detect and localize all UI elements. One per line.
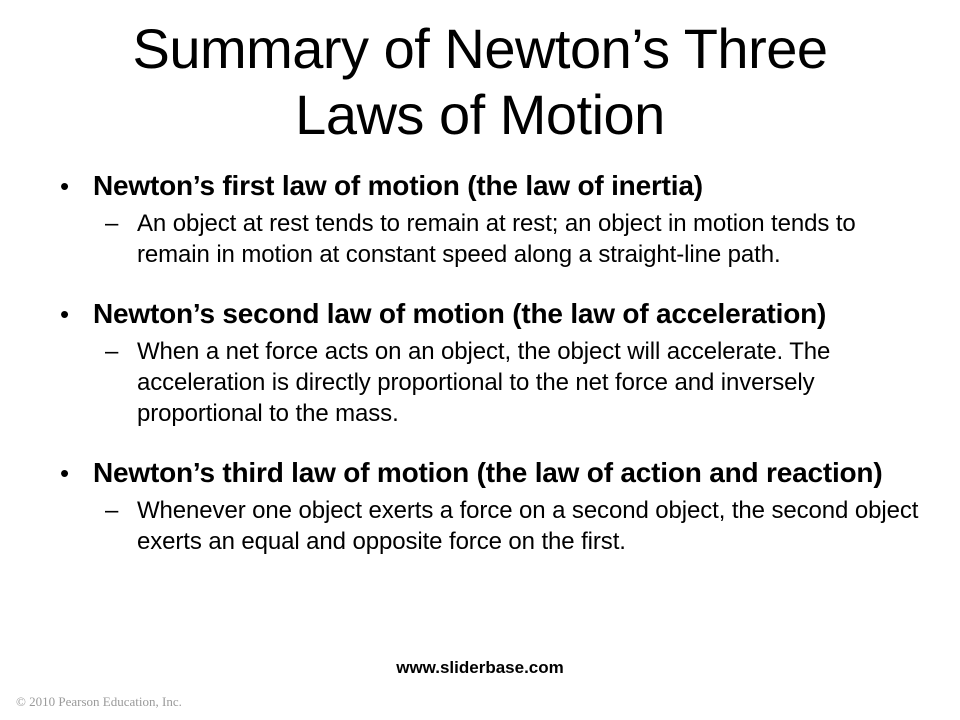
law-detail-first: –An object at rest tends to remain at re… bbox=[50, 208, 930, 270]
law-heading-second: •Newton’s second law of motion (the law … bbox=[50, 296, 930, 332]
law-heading-text: Newton’s third law of motion (the law of… bbox=[93, 457, 882, 488]
dash-icon: – bbox=[105, 208, 118, 239]
slide-body: •Newton’s first law of motion (the law o… bbox=[50, 168, 930, 557]
law-detail-third: –Whenever one object exerts a force on a… bbox=[50, 495, 930, 557]
law-group-third: •Newton’s third law of motion (the law o… bbox=[50, 455, 930, 557]
law-heading-third: •Newton’s third law of motion (the law o… bbox=[50, 455, 930, 491]
law-heading-first: •Newton’s first law of motion (the law o… bbox=[50, 168, 930, 204]
law-group-first: •Newton’s first law of motion (the law o… bbox=[50, 168, 930, 270]
law-detail-second: –When a net force acts on an object, the… bbox=[50, 336, 930, 429]
copyright-notice: © 2010 Pearson Education, Inc. bbox=[16, 694, 182, 710]
law-heading-text: Newton’s second law of motion (the law o… bbox=[93, 298, 826, 329]
law-detail-text: When a net force acts on an object, the … bbox=[137, 336, 930, 429]
watermark: www.sliderbase.com bbox=[0, 658, 960, 678]
law-detail-text: An object at rest tends to remain at res… bbox=[137, 208, 930, 270]
bullet-icon: • bbox=[60, 168, 69, 204]
law-heading-text: Newton’s first law of motion (the law of… bbox=[93, 170, 703, 201]
law-detail-text: Whenever one object exerts a force on a … bbox=[137, 495, 930, 557]
bullet-icon: • bbox=[60, 296, 69, 332]
dash-icon: – bbox=[105, 336, 118, 367]
law-group-second: •Newton’s second law of motion (the law … bbox=[50, 296, 930, 429]
slide: Summary of Newton’s Three Laws of Motion… bbox=[0, 0, 960, 720]
title-line-1: Summary of Newton’s Three bbox=[0, 16, 960, 82]
dash-icon: – bbox=[105, 495, 118, 526]
bullet-icon: • bbox=[60, 455, 69, 491]
slide-title: Summary of Newton’s Three Laws of Motion bbox=[0, 16, 960, 148]
title-line-2: Laws of Motion bbox=[0, 82, 960, 148]
